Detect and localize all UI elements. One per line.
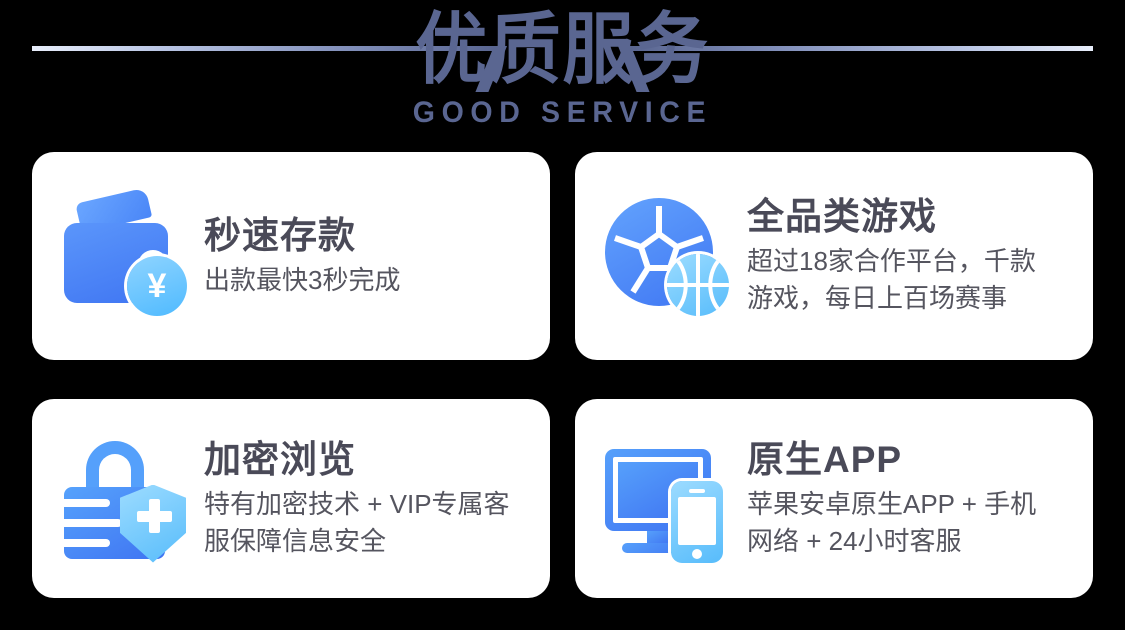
feature-card-grid: ¥ 秒速存款 出款最快3秒完成 [32, 152, 1093, 598]
feature-card-games[interactable]: 全品类游戏 超过18家合作平台，千款 游戏，每日上百场赛事 [575, 152, 1093, 360]
card-title: 原生APP [747, 438, 1083, 482]
padlock-stripe [64, 499, 110, 507]
yen-coin-icon: ¥ [127, 256, 187, 316]
card-subtitle: 特有加密技术 + VIP专属客 服保障信息安全 [204, 486, 540, 560]
phone-speaker [689, 489, 705, 493]
card-text-encryption: 加密浏览 特有加密技术 + VIP专属客 服保障信息安全 [204, 438, 540, 560]
card-subtitle: 出款最快3秒完成 [204, 262, 540, 299]
card-title: 加密浏览 [204, 438, 540, 482]
phone-home-button [692, 549, 702, 559]
page-header: 优质服务 GOOD SERVICE [0, 0, 1125, 142]
card-title: 秒速存款 [204, 214, 540, 258]
desktop-monitor-icon [601, 433, 733, 565]
page-title: 优质服务 [45, 8, 1080, 92]
mobile-phone-icon [671, 481, 723, 563]
page-subtitle: GOOD SERVICE [28, 96, 1097, 130]
card-subtitle: 超过18家合作平台，千款 游戏，每日上百场赛事 [747, 243, 1083, 317]
card-title: 全品类游戏 [747, 195, 1083, 239]
wallet-icon: ¥ [58, 190, 190, 322]
card-text-native-app: 原生APP 苹果安卓原生APP + 手机 网络 + 24小时客服 [747, 438, 1083, 560]
feature-card-encryption[interactable]: 加密浏览 特有加密技术 + VIP专属客 服保障信息安全 [32, 399, 550, 598]
feature-card-deposit[interactable]: ¥ 秒速存款 出款最快3秒完成 [32, 152, 550, 360]
shield-cross-horizontal [137, 511, 172, 522]
card-text-games: 全品类游戏 超过18家合作平台，千款 游戏，每日上百场赛事 [747, 195, 1083, 317]
feature-card-native-app[interactable]: 原生APP 苹果安卓原生APP + 手机 网络 + 24小时客服 [575, 399, 1093, 598]
padlock-icon [58, 433, 190, 565]
padlock-stripe [64, 539, 110, 547]
basketball-icon [667, 254, 729, 316]
padlock-stripe [64, 519, 122, 527]
phone-screen [678, 497, 716, 545]
page-root: 优质服务 GOOD SERVICE ¥ 秒速存款 出款最快3秒完成 [0, 0, 1125, 630]
soccer-ball-icon [601, 190, 733, 322]
card-text-deposit: 秒速存款 出款最快3秒完成 [204, 214, 540, 299]
card-subtitle: 苹果安卓原生APP + 手机 网络 + 24小时客服 [747, 486, 1083, 560]
